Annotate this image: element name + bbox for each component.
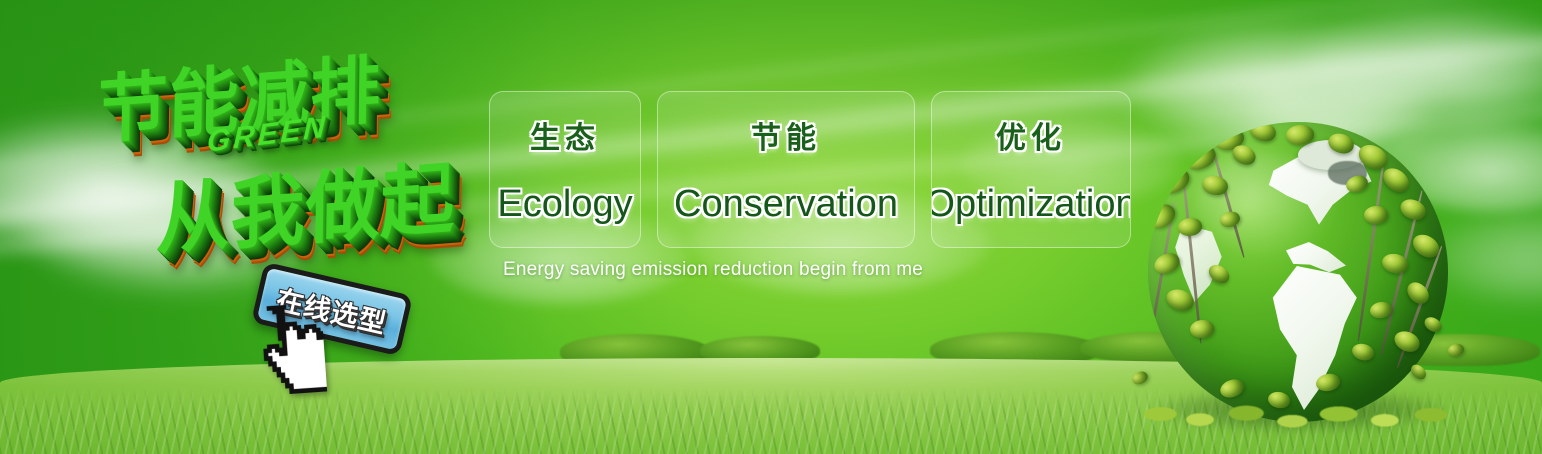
bush-icon xyxy=(1080,332,1230,362)
tagline-text: Energy saving emission reduction begin f… xyxy=(503,259,923,281)
online-selection-label: 在线选型 xyxy=(273,277,391,340)
feature-en-label: Conservation xyxy=(674,183,898,226)
feature-cn-label: 节能 xyxy=(751,113,821,157)
feature-en-label: Ecology xyxy=(497,183,632,226)
feature-cn-label: 优化 xyxy=(996,113,1066,157)
grass-field xyxy=(0,358,1542,454)
feature-box-row: 生态 Ecology 节能 Conservation 优化 Optimizati… xyxy=(489,91,1131,248)
feature-en-label: Optimization xyxy=(931,183,1131,226)
grass-texture xyxy=(0,388,1542,454)
feature-box-ecology[interactable]: 生态 Ecology xyxy=(489,91,641,248)
feature-box-conservation[interactable]: 节能 Conservation xyxy=(657,91,915,248)
feature-box-optimization[interactable]: 优化 Optimization xyxy=(931,91,1131,248)
hero-title-line2: 从我做起 xyxy=(155,135,456,271)
feature-cn-label: 生态 xyxy=(530,113,600,157)
hero-title: 节能减排 GREEN 从我做起 xyxy=(88,24,504,283)
green-energy-banner: 节能减排 GREEN 从我做起 在线选型 生态 Ecology 节能 Conse… xyxy=(0,0,1542,454)
